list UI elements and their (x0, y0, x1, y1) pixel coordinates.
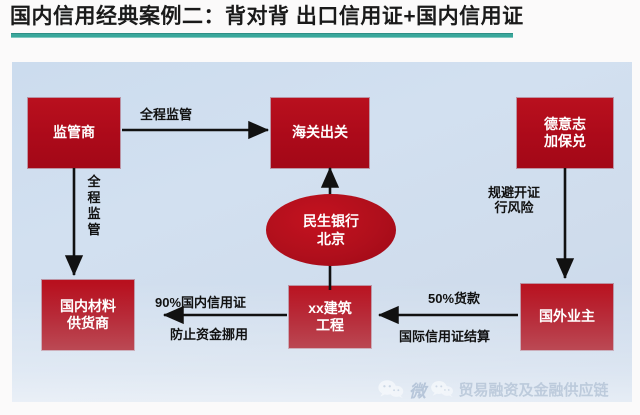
watermark-account-name: 贸易融资及金融供应链 (459, 379, 609, 400)
edge-label-domestic-lc: 90%国内信用证 (155, 296, 246, 311)
wechat-icon (378, 379, 404, 399)
title-underline (11, 33, 513, 38)
edge-label-deutsche-owner: 规避开证行风险 (486, 186, 542, 216)
wechat-icon-secondary (430, 380, 454, 398)
edge-label-50-payment: 50%货款 (428, 292, 480, 307)
edge-label-supervisor-supplier: 全程监管 (86, 174, 102, 237)
node-bank-line1: 民生银行 (303, 212, 359, 230)
edge-label-prevent-misuse: 防止资金挪用 (170, 328, 248, 343)
page-title: 国内信用经典案例二：背对背 出口信用证+国内信用证 (10, 2, 630, 32)
edge-label-intl-lc-settlement: 国际信用证结算 (399, 330, 490, 345)
node-minsheng-bank[interactable]: 民生银行 北京 (266, 194, 396, 266)
wechat-watermark: 微 贸易融资及金融供应链 (378, 374, 609, 404)
diagram-panel: 监管商 海关出关 德意志 加保兑 民生银行 北京 国内材料 供货商 xx建筑 工… (12, 62, 632, 402)
edge-label-supervisor-customs: 全程监管 (140, 108, 192, 123)
slide-root: 国内信用经典案例二：背对背 出口信用证+国内信用证 (0, 0, 640, 415)
node-bank-line2: 北京 (317, 230, 345, 248)
watermark-prefix: 微 (409, 377, 427, 402)
